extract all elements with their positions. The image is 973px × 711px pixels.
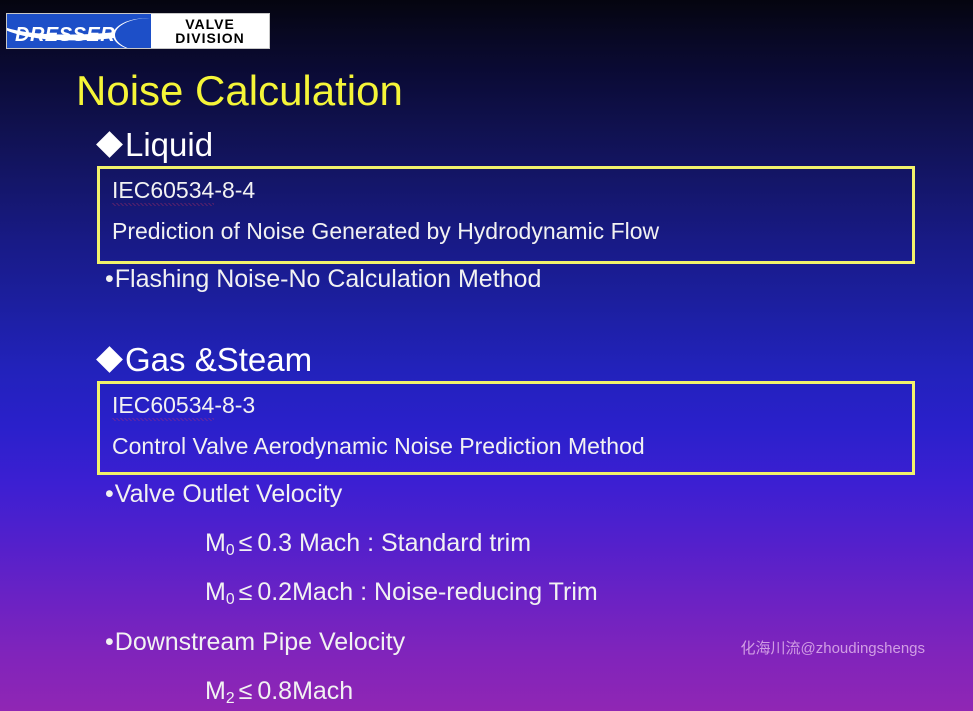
- less-or-equal-icon: ≤: [239, 677, 253, 705]
- standard-description-liquid: Prediction of Noise Generated by Hydrody…: [112, 220, 900, 243]
- watermark: 化海川流@zhoudingshengs: [741, 641, 925, 656]
- standard-code-gas: IEC60534-8-3: [112, 394, 900, 417]
- slide-title: Noise Calculation: [76, 70, 403, 112]
- bullet-downstream-pipe-velocity: •Downstream Pipe Velocity: [105, 630, 405, 655]
- formula-symbol: M: [205, 529, 226, 557]
- diamond-bullet-icon: [96, 131, 123, 158]
- bullet-dot-icon: •: [105, 265, 114, 293]
- logo-division-line1: VALVE: [185, 17, 235, 31]
- bullet-downstream-pipe-velocity-label: Downstream Pipe Velocity: [115, 628, 405, 656]
- standard-code-liquid: IEC60534-8-4: [112, 179, 900, 202]
- less-or-equal-icon: ≤: [239, 529, 253, 557]
- logo-brand-text: DRESSER: [7, 25, 115, 48]
- logo-division-line2: DIVISION: [175, 31, 244, 45]
- bullet-valve-outlet-velocity-label: Valve Outlet Velocity: [115, 480, 342, 508]
- dresser-valve-division-logo: DRESSER VALVE DIVISION: [6, 13, 270, 49]
- standard-box-liquid: IEC60534-8-4 Prediction of Noise Generat…: [97, 166, 915, 264]
- formula-symbol: M: [205, 677, 226, 705]
- standard-code-liquid-suffix: -8-4: [214, 177, 255, 203]
- formula-value: 0.2Mach : Noise-reducing Trim: [257, 578, 597, 606]
- formula-value: 0.3 Mach : Standard trim: [257, 529, 531, 557]
- less-or-equal-icon: ≤: [239, 578, 253, 606]
- standard-code-gas-suffix: -8-3: [214, 392, 255, 418]
- formula-value: 0.8Mach: [257, 677, 353, 705]
- diamond-bullet-icon: [96, 346, 123, 373]
- logo-division-panel: VALVE DIVISION: [151, 14, 269, 48]
- formula-valve-outlet-noise-reducing-trim: M0≤0.2Mach : Noise-reducing Trim: [205, 580, 598, 605]
- formula-subscript: 0: [226, 591, 235, 608]
- bullet-flashing-noise: •Flashing Noise-No Calculation Method: [105, 267, 541, 292]
- formula-subscript: 0: [226, 542, 235, 559]
- section-heading-gas-steam: Gas &Steam: [100, 343, 312, 376]
- standard-code-liquid-root: IEC60534: [112, 177, 214, 206]
- standard-description-gas: Control Valve Aerodynamic Noise Predicti…: [112, 435, 900, 458]
- standard-code-gas-root: IEC60534: [112, 392, 214, 421]
- slide-canvas: DRESSER VALVE DIVISION Noise Calculation…: [0, 0, 973, 711]
- bullet-dot-icon: •: [105, 480, 114, 508]
- formula-symbol: M: [205, 578, 226, 606]
- standard-box-gas: IEC60534-8-3 Control Valve Aerodynamic N…: [97, 381, 915, 475]
- logo-swoosh-tail-icon: [115, 18, 151, 48]
- bullet-valve-outlet-velocity: •Valve Outlet Velocity: [105, 482, 342, 507]
- logo-brand-panel: DRESSER: [7, 14, 151, 48]
- formula-subscript: 2: [226, 690, 235, 707]
- section-heading-liquid: Liquid: [100, 128, 213, 161]
- formula-downstream-pipe: M2≤0.8Mach: [205, 679, 353, 704]
- section-heading-liquid-label: Liquid: [125, 128, 213, 161]
- bullet-dot-icon: •: [105, 628, 114, 656]
- section-heading-gas-steam-label: Gas &Steam: [125, 343, 312, 376]
- formula-valve-outlet-standard-trim: M0≤0.3 Mach : Standard trim: [205, 531, 531, 556]
- bullet-flashing-noise-label: Flashing Noise-No Calculation Method: [115, 265, 542, 293]
